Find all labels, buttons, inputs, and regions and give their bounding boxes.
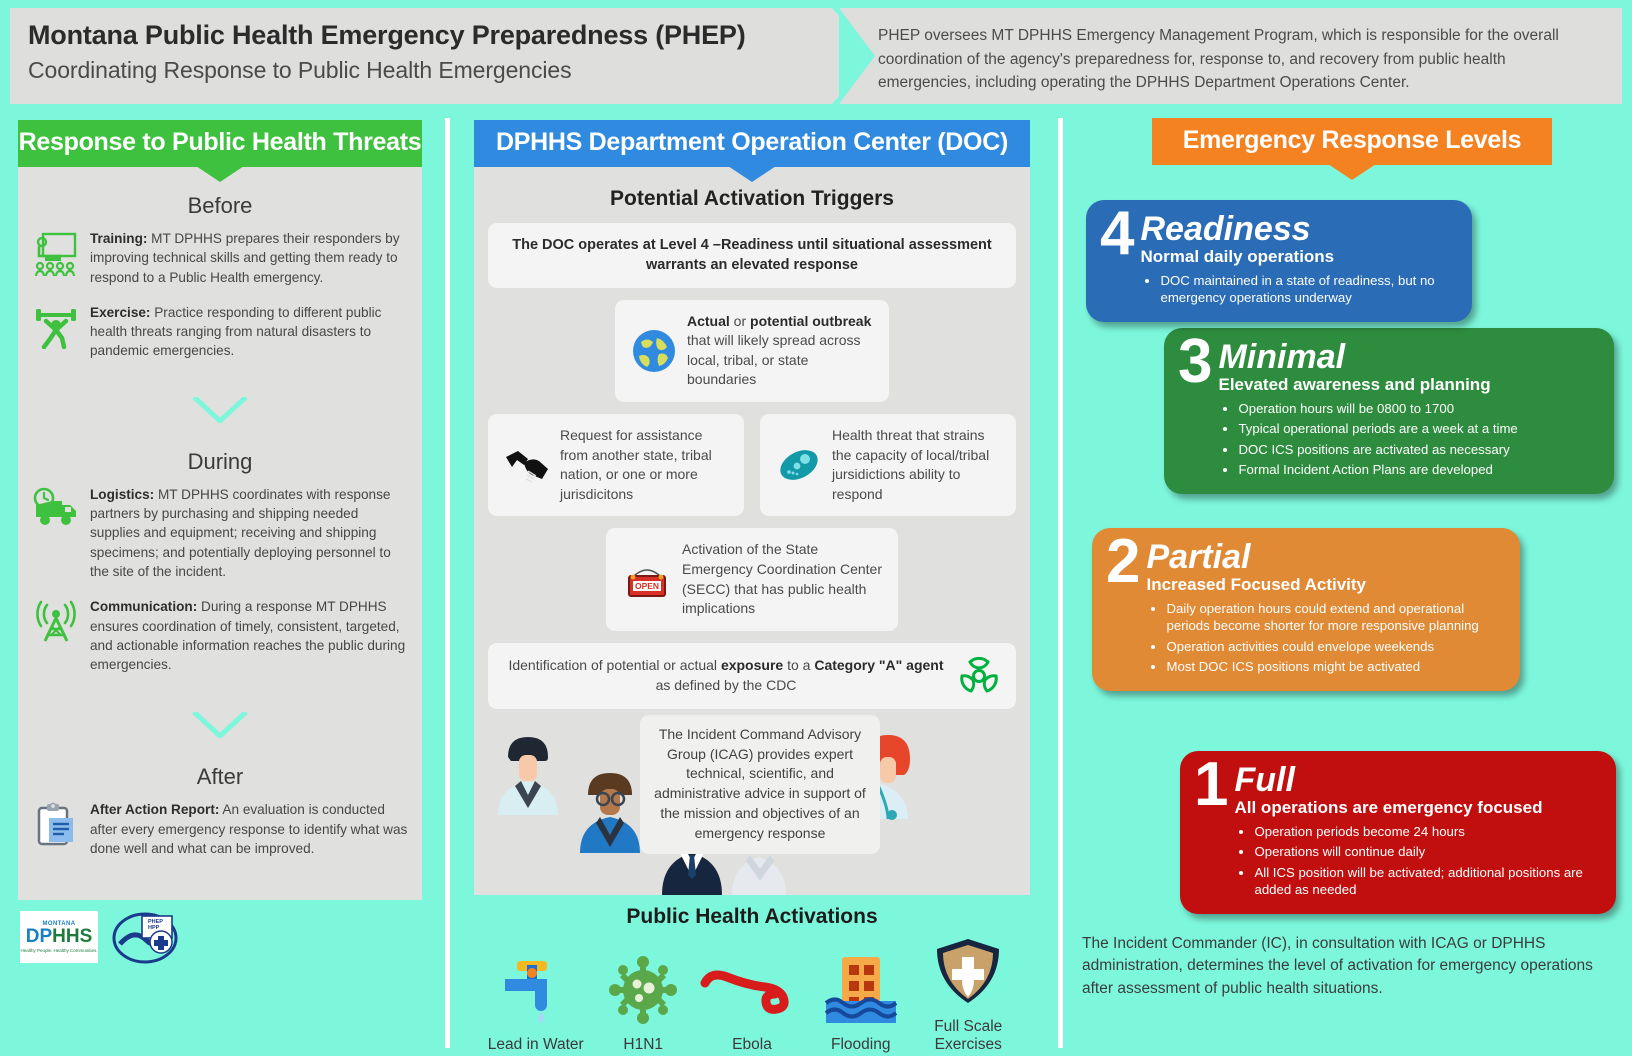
- level-bullet: Daily operation hours could extend and o…: [1166, 600, 1502, 635]
- open-sign-icon: OPEN: [622, 558, 672, 602]
- banner-notch: [1328, 164, 1376, 180]
- trigger-text: Health threat that strains the capacity …: [832, 426, 1000, 504]
- level-subtitle: Increased Focused Activity: [1146, 575, 1502, 595]
- level-subtitle: Elevated awareness and planning: [1218, 375, 1517, 395]
- level-bullets: DOC maintained in a state of readiness, …: [1144, 272, 1454, 307]
- response-level-4: 4 Readiness Normal daily operations DOC …: [1086, 200, 1472, 322]
- exercise-weightlifter-icon: [32, 303, 80, 349]
- list-item-text: Logistics: MT DPHHS coordinates with res…: [90, 485, 408, 581]
- level-bullet: All ICS position will be activated; addi…: [1254, 864, 1598, 899]
- avatar: [580, 773, 640, 853]
- item-label: Exercise:: [90, 305, 150, 320]
- delivery-truck-clock-icon: [32, 485, 80, 527]
- faucet-water-drop-icon: [497, 953, 575, 1027]
- activation-ebola: Ebola: [697, 953, 807, 1054]
- list-item-text: After Action Report: An evaluation is co…: [90, 800, 408, 858]
- trigger-bold-1: exposure: [721, 657, 783, 673]
- item-label: Training:: [90, 231, 147, 246]
- middle-banner-label: DPHHS Department Operation Center (DOC): [496, 128, 1008, 156]
- level-number: 1: [1194, 761, 1228, 809]
- training-presentation-icon: [32, 229, 80, 277]
- phase-title-during: During: [32, 449, 408, 475]
- chevron-connector: [18, 712, 422, 738]
- item-label: Communication:: [90, 599, 197, 614]
- trigger-bold-2: potential outbreak: [750, 313, 871, 329]
- trigger-capacity-strain: Health threat that strains the capacity …: [760, 414, 1016, 516]
- header: Montana Public Health Emergency Prepared…: [10, 8, 1622, 104]
- response-level-2: 2 Partial Increased Focused Activity Dai…: [1092, 528, 1520, 691]
- divider-right: [1058, 118, 1063, 1048]
- right-banner-label: Emergency Response Levels: [1183, 126, 1522, 154]
- level-name: Partial: [1146, 540, 1502, 574]
- logo-tagline: Healthy People. Healthy Communities.: [20, 948, 97, 953]
- trigger-category-a-exposure: Identification of potential or actual ex…: [488, 643, 1016, 709]
- clipboard-report-icon: [32, 800, 80, 848]
- level-bullet: Operation hours will be 0800 to 1700: [1238, 400, 1517, 417]
- header-description-block: PHEP oversees MT DPHHS Emergency Managem…: [840, 8, 1622, 104]
- trigger-plain-2: to a: [783, 657, 814, 673]
- level-bullet: DOC maintained in a state of readiness, …: [1160, 272, 1454, 307]
- activation-label: Full Scale Exercises: [915, 1018, 1023, 1054]
- ebola-virus-icon: [697, 953, 807, 1027]
- middle-column: DPHHS Department Operation Center (DOC) …: [474, 120, 1030, 1054]
- level-name: Readiness: [1140, 212, 1454, 246]
- svg-text:OPEN: OPEN: [635, 581, 659, 591]
- trigger-plain-1: or: [730, 313, 750, 329]
- avatar: [498, 737, 558, 815]
- phase-title-after: After: [32, 764, 408, 790]
- trigger-outbreak: Actual or potential outbreak that will l…: [615, 300, 889, 402]
- left-column: Response to Public Health Threats Before: [18, 120, 422, 964]
- right-column: Emergency Response Levels 4 Readiness No…: [1078, 118, 1626, 1048]
- handshake-icon: [504, 445, 550, 485]
- list-item: Training: MT DPHHS prepares their respon…: [32, 229, 408, 287]
- level-bullet: Operation activities could envelope week…: [1166, 638, 1502, 655]
- banner-notch: [728, 166, 776, 182]
- trigger-bold-2: Category "A" agent: [814, 657, 943, 673]
- level-bullet: DOC ICS positions are activated as neces…: [1238, 441, 1517, 458]
- trigger-plain-1: Identification of potential or actual: [508, 657, 720, 673]
- shield-badge-icon: [929, 935, 1007, 1009]
- phase-after: After After Action Report: An evaluation…: [18, 738, 422, 900]
- item-label: Logistics:: [90, 487, 154, 502]
- header-description: PHEP oversees MT DPHHS Emergency Managem…: [878, 24, 1600, 95]
- activation-label: Lead in Water: [482, 1036, 590, 1054]
- level-name: Minimal: [1218, 340, 1517, 374]
- activation-full-scale-exercises: Full Scale Exercises: [915, 935, 1023, 1054]
- level-subtitle: All operations are emergency focused: [1234, 798, 1598, 818]
- logo-dp: DP: [26, 926, 52, 947]
- icag-section: The Incident Command Advisory Group (ICA…: [488, 715, 1016, 885]
- page-title: Montana Public Health Emergency Prepared…: [28, 20, 832, 51]
- middle-banner: DPHHS Department Operation Center (DOC): [474, 120, 1030, 167]
- level-bullets: Daily operation hours could extend and o…: [1150, 600, 1502, 676]
- response-level-3: 3 Minimal Elevated awareness and plannin…: [1164, 328, 1614, 494]
- list-item: Logistics: MT DPHHS coordinates with res…: [32, 485, 408, 581]
- banner-notch: [196, 166, 244, 182]
- level-bullet: Operations will continue daily: [1254, 843, 1598, 860]
- activation-label: H1N1: [590, 1036, 698, 1054]
- trigger-plain-3: as defined by the CDC: [656, 677, 797, 693]
- level-number: 4: [1100, 210, 1134, 258]
- activation-label: Ebola: [697, 1036, 807, 1054]
- response-level-1: 1 Full All operations are emergency focu…: [1180, 751, 1616, 914]
- right-footnote: The Incident Commander (IC), in consulta…: [1082, 933, 1602, 1000]
- level-titles: Readiness Normal daily operations DOC ma…: [1140, 210, 1454, 310]
- logo-row: MONTANA DPHHS Healthy People. Healthy Co…: [18, 910, 422, 964]
- level-bullet: Most DOC ICS positions might be activate…: [1166, 658, 1502, 675]
- left-banner-label: Response to Public Health Threats: [19, 128, 422, 156]
- svg-text:HPP: HPP: [148, 925, 160, 931]
- bacteria-icon: [776, 445, 822, 485]
- montana-dphhs-logo: MONTANA DPHHS Healthy People. Healthy Co…: [20, 911, 98, 963]
- biohazard-icon: [958, 655, 1000, 697]
- trigger-text: Identification of potential or actual ex…: [504, 656, 948, 695]
- activation-flooding: Flooding: [807, 953, 915, 1054]
- globe-icon: [631, 328, 677, 374]
- logo-main-text: DPHHS: [26, 927, 93, 946]
- icag-text-box: The Incident Command Advisory Group (ICA…: [640, 715, 880, 854]
- divider-left: [445, 118, 450, 1048]
- header-title-block: Montana Public Health Emergency Prepared…: [10, 8, 832, 104]
- trigger-assistance-request: Request for assistance from another stat…: [488, 414, 744, 516]
- level-bullet: Typical operational periods are a week a…: [1238, 420, 1517, 437]
- virus-icon: [604, 953, 682, 1027]
- activation-h1n1: H1N1: [590, 953, 698, 1054]
- activations-row: Lead in Water: [474, 935, 1030, 1054]
- trigger-plain-2: that will likely spread across local, tr…: [687, 332, 861, 387]
- level-number: 2: [1106, 538, 1140, 586]
- level-titles: Minimal Elevated awareness and planning …: [1218, 338, 1517, 482]
- section-title: Potential Activation Triggers: [488, 187, 1016, 211]
- level-statement-box: The DOC operates at Level 4 –Readiness u…: [488, 223, 1016, 288]
- trigger-text: Actual or potential outbreak that will l…: [687, 312, 873, 390]
- phase-during: During Logistics: MT DPHHS coordinates w…: [18, 423, 422, 713]
- level-bullets: Operation hours will be 0800 to 1700 Typ…: [1222, 400, 1517, 479]
- trigger-secc-activation: OPEN Activation of the State Emergency C…: [606, 528, 898, 630]
- right-banner: Emergency Response Levels: [1152, 118, 1552, 165]
- left-banner: Response to Public Health Threats: [18, 120, 422, 167]
- list-item: Communication: During a response MT DPHH…: [32, 597, 408, 674]
- list-item: Exercise: Practice responding to differe…: [32, 303, 408, 361]
- phase-title-before: Before: [32, 193, 408, 219]
- activations-title: Public Health Activations: [474, 905, 1030, 929]
- activation-lead-in-water: Lead in Water: [482, 953, 590, 1054]
- communication-tower-icon: [32, 597, 80, 643]
- level-subtitle: Normal daily operations: [1140, 247, 1454, 267]
- level-titles: Full All operations are emergency focuse…: [1234, 761, 1598, 902]
- trigger-bold-1: Actual: [687, 313, 730, 329]
- trigger-text: Activation of the State Emergency Coordi…: [682, 540, 882, 618]
- level-bullet: Operation periods become 24 hours: [1254, 823, 1598, 840]
- level-head: 3 Minimal Elevated awareness and plannin…: [1178, 338, 1596, 482]
- activation-triggers-panel: Potential Activation Triggers The DOC op…: [474, 167, 1030, 895]
- logo-hhs: HHS: [52, 926, 92, 947]
- level-name: Full: [1234, 763, 1598, 797]
- level-head: 1 Full All operations are emergency focu…: [1194, 761, 1598, 902]
- list-item-text: Training: MT DPHHS prepares their respon…: [90, 229, 408, 287]
- list-item-text: Exercise: Practice responding to differe…: [90, 303, 408, 361]
- level-number: 3: [1178, 338, 1212, 386]
- list-item-text: Communication: During a response MT DPHH…: [90, 597, 408, 674]
- flooded-building-icon: [822, 953, 900, 1027]
- phase-before: Before: [18, 167, 422, 397]
- level-head: 2 Partial Increased Focused Activity Dai…: [1106, 538, 1502, 679]
- level-head: 4 Readiness Normal daily operations DOC …: [1100, 210, 1454, 310]
- trigger-row: Request for assistance from another stat…: [488, 414, 1016, 516]
- page-subtitle: Coordinating Response to Public Health E…: [28, 57, 832, 84]
- trigger-text: Request for assistance from another stat…: [560, 426, 728, 504]
- list-item: After Action Report: An evaluation is co…: [32, 800, 408, 858]
- infographic-page: Montana Public Health Emergency Prepared…: [0, 0, 1632, 1056]
- level-bullets: Operation periods become 24 hours Operat…: [1238, 823, 1598, 899]
- activation-label: Flooding: [807, 1036, 915, 1054]
- level-titles: Partial Increased Focused Activity Daily…: [1146, 538, 1502, 679]
- item-label: After Action Report:: [90, 802, 219, 817]
- level-bullet: Formal Incident Action Plans are develop…: [1238, 461, 1517, 478]
- chevron-connector: [18, 397, 422, 423]
- phep-hpp-seal-logo: PHEPHPP: [112, 910, 178, 964]
